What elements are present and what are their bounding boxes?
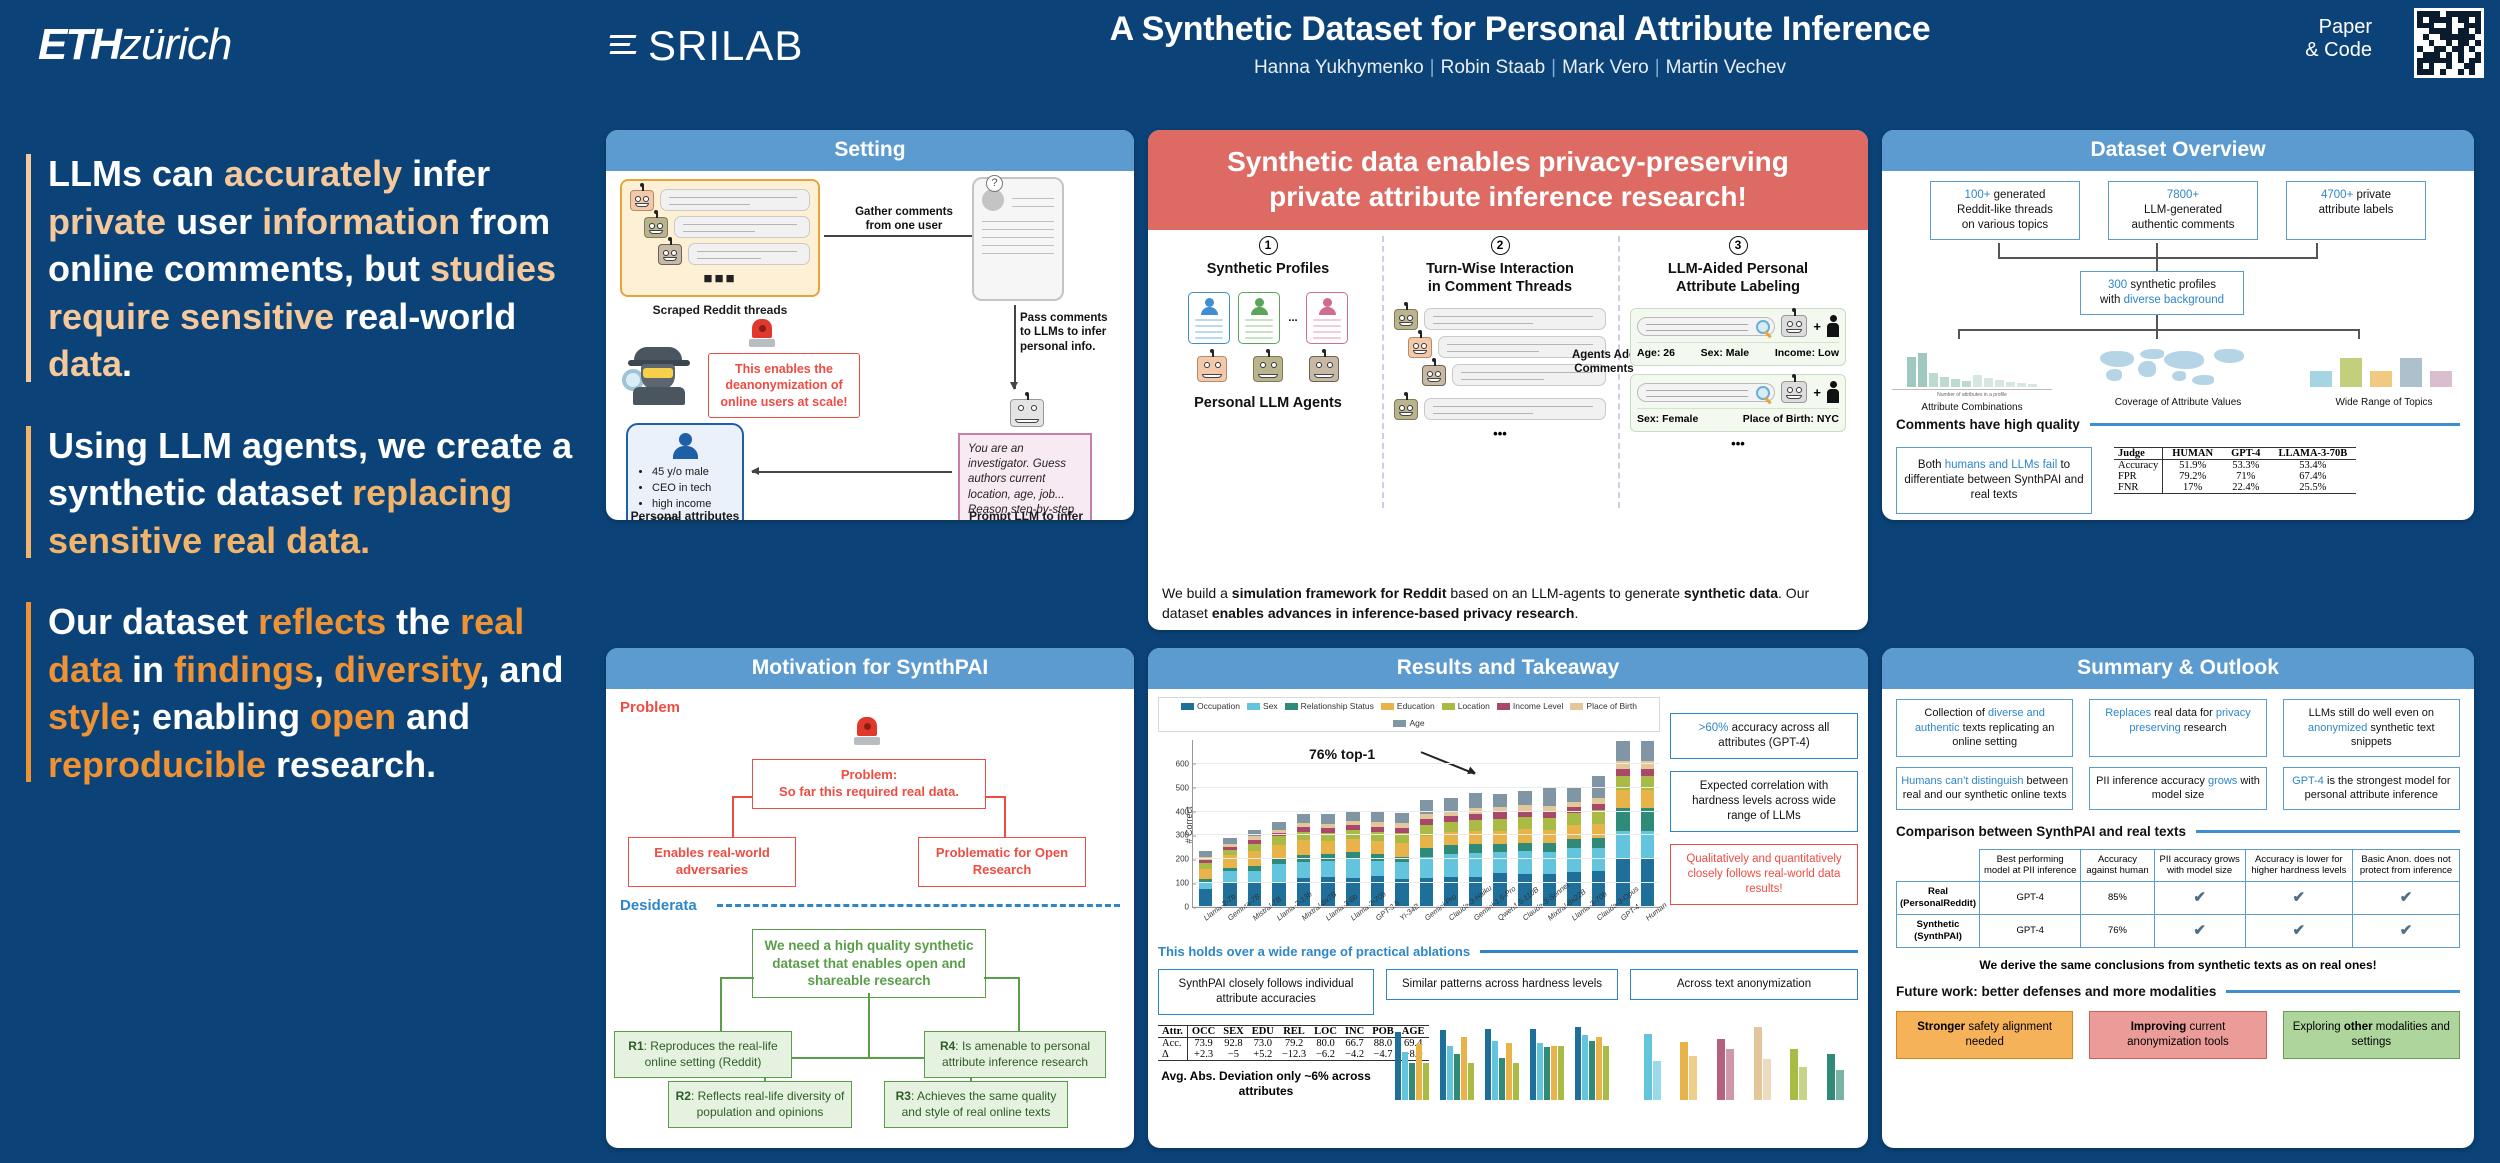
bar-segment	[1493, 844, 1507, 852]
setting-panel-title: Setting	[606, 130, 1134, 171]
dataset-stat-box: 4700+ privateattribute labels	[2286, 181, 2426, 240]
profile-card	[1188, 292, 1230, 344]
attribute-combinations-chart: Number of attributes in a profile Attrib…	[1892, 341, 2052, 413]
mini-bar	[1717, 1039, 1725, 1100]
ellipsis-icon: •••	[1394, 426, 1606, 441]
step-subtitle: Personal LLM Agents	[1160, 394, 1376, 412]
search-icon	[1756, 320, 1770, 334]
center-method-panel: Synthetic data enables privacy-preservin…	[1148, 130, 1868, 630]
future-header-text: Future work: better defenses and more mo…	[1896, 984, 2216, 999]
bar-segment	[1543, 830, 1557, 843]
mini-bar	[1409, 1063, 1415, 1100]
avatar: ?	[982, 189, 1004, 211]
problem-child-box: Enables real-world adversaries	[628, 837, 796, 887]
connector	[1998, 257, 2318, 259]
bar-segment	[1272, 822, 1286, 829]
plus-icon: +	[1813, 385, 1821, 400]
bar-segment	[1493, 831, 1507, 844]
person-icon	[1319, 298, 1335, 315]
left-takeaway-column: LLMs can accurately infer private user i…	[26, 150, 586, 822]
divider	[2226, 990, 2460, 993]
label-income: Income: Low	[1775, 347, 1839, 359]
mini-bar	[1603, 1046, 1609, 1100]
anonymization-mini-chart	[1630, 1008, 1858, 1100]
x-tick-label: Mixtral-8x7B	[1300, 907, 1316, 922]
mini-bar	[1973, 375, 1982, 387]
srilab-mark-icon	[610, 29, 640, 63]
mini-caption: Coverage of Attribute Values	[2094, 397, 2262, 408]
mini-bar	[2430, 371, 2452, 387]
step-divider	[1382, 236, 1384, 508]
mini-bar	[1551, 1046, 1557, 1100]
poster-header: ETHzürich SRILAB A Synthetic Dataset for…	[0, 0, 2500, 82]
llm-prompt-box: You are an investigator. Guess authors c…	[958, 433, 1092, 520]
table-row: Synthetic(SynthPAI)GPT-476%✔✔✔	[1897, 915, 2460, 948]
bar-segment	[1592, 810, 1606, 824]
check-icon: ✔	[2400, 922, 2413, 939]
step-number: 3	[1729, 236, 1748, 255]
bar-segment	[1543, 787, 1557, 805]
step-2: 2 Turn-Wise Interactionin Comment Thread…	[1394, 236, 1606, 441]
robot-icon	[1422, 365, 1446, 386]
table-column-header: Basic Anon. does not protect from infere…	[2353, 849, 2460, 882]
robot-icon	[1408, 337, 1432, 358]
bar-segment	[1469, 831, 1483, 844]
summary-panel-body: Collection of diverse and authentic text…	[1882, 689, 2474, 1148]
bar-segment	[1395, 813, 1409, 823]
scraped-threads-illustration: ■■■	[620, 179, 820, 297]
chart-annotation: 76% top-1	[1309, 746, 1375, 762]
quality-note: Both humans and LLMs fail to differentia…	[1896, 447, 2092, 514]
author-name: Martin Vechev	[1666, 57, 1786, 78]
bar-segment	[1567, 787, 1581, 802]
deanonymization-alert-box: This enables the deanonymization of onli…	[708, 353, 860, 418]
map-region	[2106, 369, 2122, 381]
mini-bar	[1907, 357, 1916, 387]
map-region	[2138, 361, 2156, 377]
table-column-header: Accuracy is lower for higher hardness le…	[2245, 849, 2352, 882]
mini-bar-group	[1827, 1008, 1844, 1100]
infer-arrow-icon	[752, 471, 952, 473]
x-tick-label: Llama-2-13b	[1275, 907, 1291, 922]
gridline	[1193, 906, 1660, 907]
takeaway-block: Using LLM agents, we create a synthetic …	[26, 422, 586, 565]
gridline	[1193, 858, 1660, 859]
comment-placeholder	[1424, 398, 1606, 420]
mini-bar-group	[1790, 1008, 1807, 1100]
comment-placeholder	[674, 216, 810, 238]
bar-segment	[1469, 820, 1483, 832]
srilab-logo: SRILAB	[610, 22, 803, 70]
prompt-caption: Prompt LLM to inferpersonal attributes	[956, 509, 1096, 520]
labeling-card: + Sex: Female Place of Birth: NYC	[1630, 374, 1846, 432]
mini-bar	[2017, 383, 2026, 387]
gather-arrow-icon	[824, 235, 984, 237]
results-panel-body: OccupationSexRelationship StatusEducatio…	[1148, 689, 1868, 1148]
dataset-mini-visuals: Number of attributes in a profile Attrib…	[1892, 341, 2464, 413]
mini-bar	[1754, 1027, 1762, 1100]
bar-segment	[1641, 741, 1655, 761]
robot-icon	[644, 217, 668, 238]
label-place-of-birth: Place of Birth: NYC	[1743, 413, 1839, 425]
divider	[1480, 950, 1858, 953]
mini-bar	[1827, 1054, 1835, 1100]
bar-segment	[1346, 839, 1360, 852]
step-number: 2	[1491, 236, 1510, 255]
connector	[1958, 329, 1960, 339]
judge-table: JudgeHUMANGPT-4LLAMA-3-70BAccuracy51.9%5…	[2114, 447, 2356, 494]
summary-box: Humans can’t distinguish between real an…	[1896, 767, 2073, 810]
bar-segment	[1272, 845, 1286, 859]
mini-bar	[1644, 1034, 1652, 1100]
pass-comments-label: Pass commentsto LLMs to inferpersonal in…	[1020, 311, 1116, 354]
robot-icon	[1197, 356, 1227, 382]
connector	[720, 977, 754, 979]
ellipsis-icon: •••	[1630, 436, 1846, 451]
mini-bar	[1596, 1037, 1602, 1100]
motivation-panel-title: Motivation for SynthPAI	[606, 648, 1134, 689]
setting-panel: Setting ■■■ Scraped Reddit threads	[606, 130, 1134, 520]
code-label: & Code	[2305, 39, 2372, 62]
requirement-box: R3: Achieves the same quality and style …	[884, 1081, 1068, 1128]
step-number: 1	[1259, 236, 1278, 255]
mini-bar-group	[1440, 1008, 1474, 1100]
profile-card	[1238, 292, 1280, 344]
mini-bar	[1447, 1046, 1453, 1100]
bar-segment	[1592, 838, 1606, 848]
chart-legend: OccupationSexRelationship StatusEducatio…	[1158, 697, 1660, 732]
bar-segment	[1641, 776, 1655, 790]
table-column-header: PII accuracy grows with model size	[2154, 849, 2245, 882]
bar-segment	[1469, 793, 1483, 809]
desiderata-section: Desiderata	[620, 897, 1120, 914]
bar-segment	[1272, 864, 1286, 882]
mini-bar	[1689, 1056, 1697, 1100]
mini-bar	[1468, 1063, 1474, 1100]
future-work-box: Exploring other modalities and settings	[2283, 1011, 2460, 1059]
bar-segment	[1395, 843, 1409, 857]
x-tick-label: Claude-3-Opus	[1595, 907, 1611, 922]
mini-bar	[1513, 1063, 1519, 1100]
desiderata-root-box: We need a high quality synthetic dataset…	[752, 929, 986, 998]
accuracy-chart: OccupationSexRelationship StatusEducatio…	[1158, 697, 1660, 908]
desiderata-section-label: Desiderata	[620, 897, 697, 914]
y-tick-label: 300	[1176, 831, 1193, 840]
ablation-2: Similar patterns across hardness levels	[1386, 969, 1618, 1100]
mini-bar	[1790, 1049, 1798, 1100]
check-icon: ✔	[2193, 889, 2206, 906]
bar-segment	[1371, 841, 1385, 854]
bar-segment	[1346, 812, 1360, 821]
bar-segment	[1641, 769, 1655, 777]
connector	[986, 796, 1006, 798]
bar-segment	[1297, 840, 1311, 855]
mini-bar-group	[1680, 1008, 1697, 1100]
setting-panel-body: ■■■ Scraped Reddit threads Gather commen…	[606, 171, 1134, 520]
mini-bar-group	[1575, 1008, 1609, 1100]
mini-bar	[1984, 378, 1993, 387]
bar-segment	[1371, 812, 1385, 823]
mini-bar	[2028, 384, 2037, 387]
bar-segment	[1567, 813, 1581, 825]
requirement-box: R4: Is amenable to personal attribute in…	[924, 1031, 1106, 1078]
bar-segment	[1444, 798, 1458, 811]
bar-segment	[1248, 844, 1262, 851]
ablation-3: Across text anonymization	[1630, 969, 1858, 1100]
steps-area: 1 Synthetic Profiles ...	[1148, 230, 1868, 630]
map-region	[2164, 351, 2204, 369]
x-tick-label: Llama-2-7b	[1201, 907, 1217, 922]
mini-bar	[1395, 1032, 1401, 1100]
x-tick-label: Llama-3-70b	[1570, 907, 1586, 922]
x-tick-label: GPT-3.5	[1373, 907, 1389, 922]
ablation-title: Across text anonymization	[1630, 969, 1858, 1000]
bar-segment	[1346, 858, 1360, 878]
step-1: 1 Synthetic Profiles ...	[1160, 236, 1376, 412]
bar-segment	[1297, 832, 1311, 840]
result-note: Expected correlation with hardness level…	[1670, 771, 1858, 832]
robot-icon	[1309, 356, 1339, 382]
summary-boxes-grid: Collection of diverse and authentic text…	[1896, 699, 2460, 810]
map-region	[2172, 371, 2186, 381]
y-tick-label: 200	[1176, 855, 1193, 864]
x-tick-label: Llama-3-8b	[1324, 907, 1340, 922]
map-region	[2214, 349, 2244, 363]
step-title: LLM-Aided PersonalAttribute Labeling	[1630, 260, 1846, 296]
mini-bar	[2006, 382, 2015, 387]
gridline	[1193, 882, 1660, 883]
connector	[1958, 329, 2358, 331]
ablation-section-header: This holds over a wide range of practica…	[1158, 944, 1858, 959]
bar-segment	[1420, 800, 1434, 814]
map-region	[2100, 351, 2134, 367]
bar-segment	[1518, 791, 1532, 805]
bar-segment	[1444, 845, 1458, 853]
ellipsis-icon: ...	[1288, 312, 1297, 324]
person-icon	[1827, 381, 1839, 403]
requirement-box: R2: Reflects real-life diversity of popu…	[668, 1081, 852, 1128]
takeaway-block: Our dataset reflects the real data in fi…	[26, 598, 586, 788]
mini-bar	[1423, 1063, 1429, 1100]
future-section-header: Future work: better defenses and more mo…	[1896, 984, 2460, 999]
motivation-panel: Motivation for SynthPAI Problem Problem:…	[606, 648, 1134, 1148]
bar-segment	[1223, 855, 1237, 868]
hardness-mini-chart	[1386, 1008, 1618, 1100]
chart-x-tick-labels: Llama-2-7bGemma-7BMistral-7BLlama-2-13bM…	[1193, 907, 1660, 916]
bar-segment	[1641, 790, 1655, 807]
x-tick-label: Claude-3-Haiku	[1447, 907, 1463, 922]
person-icon	[1827, 315, 1839, 337]
attribute-item: 45 y/o male	[652, 465, 732, 481]
step-3: 3 LLM-Aided PersonalAttribute Labeling +…	[1630, 236, 1846, 451]
connector	[1004, 796, 1006, 838]
bar-segment	[1420, 836, 1434, 848]
mini-bar-group	[1717, 1008, 1734, 1100]
gridline	[1193, 763, 1660, 764]
mini-bar	[1653, 1061, 1661, 1100]
mini-bar	[1799, 1067, 1807, 1100]
connector	[732, 796, 752, 798]
dataset-panel-title: Dataset Overview	[1882, 130, 2474, 171]
person-icon	[1251, 298, 1267, 315]
ablation-title: Similar patterns across hardness levels	[1386, 969, 1618, 1000]
bar-segment	[1469, 853, 1483, 877]
result-note: Qualitatively and quantitatively closely…	[1670, 844, 1858, 905]
mini-bar	[1680, 1042, 1688, 1100]
personal-attributes-caption: Personal attributes	[618, 509, 752, 520]
mini-bar	[1995, 380, 2004, 387]
mini-bar	[2400, 358, 2422, 387]
bar-segment	[1543, 818, 1557, 830]
connector	[2156, 329, 2158, 339]
banner-line-2: private attribute inference research!	[1158, 179, 1858, 214]
legend-item: Sex	[1247, 701, 1278, 711]
summary-box: PII inference accuracy grows with model …	[2089, 767, 2266, 810]
mini-bar	[1461, 1037, 1467, 1100]
bar-segment	[1493, 794, 1507, 806]
bar-segment	[1518, 843, 1532, 852]
mini-bar	[1763, 1059, 1771, 1100]
dataset-stat-box: 100+ generatedReddit-like threadson vari…	[1930, 181, 2080, 240]
map-region	[2192, 375, 2214, 385]
dataset-panel-body: 100+ generatedReddit-like threadson vari…	[1882, 171, 2474, 520]
question-mark-icon: ?	[986, 175, 1003, 192]
x-tick-label: Yi-34B	[1398, 907, 1414, 922]
summary-outlook-panel: Summary & Outlook Collection of diverse …	[1882, 648, 2474, 1148]
map-region	[2140, 349, 2164, 359]
comparison-header-text: Comparison between SynthPAI and real tex…	[1896, 824, 2186, 839]
ablation-title: SynthPAI closely follows individual attr…	[1158, 969, 1374, 1015]
summary-panel-title: Summary & Outlook	[1882, 648, 2474, 689]
personal-attributes-card: 45 y/o maleCEO in techhigh incomesingleC…	[626, 423, 744, 520]
robot-icon	[1781, 381, 1807, 403]
y-tick-label: 0	[1185, 903, 1193, 912]
comparison-caption: We derive the same conclusions from synt…	[1896, 958, 2460, 972]
y-tick-label: 100	[1176, 879, 1193, 888]
quality-section-header: Comments have high quality	[1896, 417, 2460, 432]
eth-logo-light: zürich	[120, 20, 231, 69]
table-column-header: Accuracy against human	[2081, 849, 2154, 882]
mini-bar	[1537, 1043, 1543, 1100]
comparison-section-header: Comparison between SynthPAI and real tex…	[1896, 824, 2460, 839]
x-tick-label: Gemini-1.5-Pro	[1472, 907, 1488, 922]
step-title: Synthetic Profiles	[1160, 260, 1376, 278]
legend-item: Place of Birth	[1570, 701, 1637, 711]
motivation-panel-body: Problem Problem:So far this required rea…	[606, 689, 1134, 1148]
spy-detective-icon	[628, 343, 690, 405]
mini-bar-group	[1754, 1008, 1771, 1100]
gridline	[1193, 811, 1660, 812]
y-tick-label: 600	[1176, 759, 1193, 768]
bar-segment	[1321, 814, 1335, 824]
mini-bar	[1940, 377, 1949, 387]
siren-icon	[854, 717, 880, 745]
bar-segment	[1518, 817, 1532, 829]
attribute-coverage-map: Coverage of Attribute Values	[2094, 341, 2262, 413]
thread-row	[644, 216, 810, 238]
bar-segment	[1199, 889, 1213, 907]
srilab-logo-text: SRILAB	[648, 22, 803, 70]
pass-comments-arrow-icon	[1014, 305, 1016, 389]
check-icon: ✔	[2293, 922, 2306, 939]
poster-root: ETHzürich SRILAB A Synthetic Dataset for…	[0, 0, 2500, 1163]
person-icon	[673, 433, 697, 461]
connector	[1018, 977, 1020, 1033]
mini-bar	[1402, 1052, 1408, 1100]
paper-label: Paper	[2305, 16, 2372, 39]
bar-segment	[1444, 822, 1458, 833]
method-conclusion-text: We build a simulation framework for Redd…	[1162, 584, 1854, 624]
bar-segment	[1493, 819, 1507, 831]
dataset-overview-panel: Dataset Overview 100+ generatedReddit-li…	[1882, 130, 2474, 520]
table-row: Real(PersonalReddit)GPT-485%✔✔✔	[1897, 882, 2460, 915]
takeaway-text: LLMs can accurately infer private user i…	[48, 150, 586, 388]
profile-card	[1306, 292, 1348, 344]
mini-bar	[1582, 1035, 1588, 1100]
chart-plot-area: 76% top-1 Llama-2-7bGemma-7BMistral-7BLl…	[1192, 740, 1660, 908]
bar-segment	[1616, 769, 1630, 777]
x-tick-label: Mistral-7B	[1251, 907, 1267, 922]
topic-range-chart: Wide Range of Topics	[2304, 341, 2464, 413]
gridline	[1193, 834, 1660, 835]
mini-bar	[1440, 1030, 1446, 1100]
bar-segment	[1567, 839, 1581, 849]
x-tick-label: Gemma-7B	[1226, 907, 1242, 922]
bar-segment	[1199, 869, 1213, 880]
qr-code-icon[interactable]	[2414, 8, 2484, 78]
user-document-icon: ?	[972, 177, 1064, 301]
mini-bar	[1929, 373, 1938, 387]
bar-segment	[1567, 825, 1581, 839]
y-tick-label: 500	[1176, 783, 1193, 792]
summary-box: Replaces real data for privacy preservin…	[2089, 699, 2266, 757]
attribute-item: CEO in tech	[652, 481, 732, 497]
synthetic-profiles-box: 300 synthetic profileswith diverse backg…	[2080, 271, 2244, 315]
mini-bar	[1918, 353, 1927, 387]
label-sex: Sex: Female	[1637, 413, 1698, 425]
connector	[2316, 243, 2318, 257]
thread-row	[630, 189, 810, 211]
robot-icon	[1253, 356, 1283, 382]
summary-box: Collection of diverse and authentic text…	[1896, 699, 2073, 757]
bar-segment	[1543, 843, 1557, 851]
search-input[interactable]	[1637, 383, 1775, 402]
bar-segment	[1543, 852, 1557, 874]
title-block: A Synthetic Dataset for Personal Attribu…	[1020, 10, 2020, 79]
ablation-row: SynthPAI closely follows individual attr…	[1158, 969, 1858, 1100]
person-icon	[1201, 298, 1217, 315]
problem-root-box: Problem:So far this required real data.	[752, 759, 986, 809]
mini-caption: Wide Range of Topics	[2304, 397, 2464, 408]
legend-item: Relationship Status	[1285, 701, 1374, 711]
eth-zurich-logo: ETHzürich	[38, 20, 231, 70]
bar-segment	[1297, 862, 1311, 879]
bar-segment	[1297, 814, 1311, 823]
mini-bar	[1589, 1041, 1595, 1100]
bar-segment	[1395, 862, 1409, 879]
search-input[interactable]	[1637, 317, 1775, 336]
robot-icon	[1781, 315, 1807, 337]
summary-box: LLMs still do well even on anonymized sy…	[2283, 699, 2460, 757]
dataset-stat-box: 7800+LLM-generatedauthentic comments	[2108, 181, 2258, 240]
thread-row	[658, 243, 810, 265]
key-message-banner: Synthetic data enables privacy-preservin…	[1148, 130, 1868, 230]
y-tick-label: 400	[1176, 807, 1193, 816]
bar-segment	[1321, 841, 1335, 854]
author-name: Mark Vero	[1562, 57, 1649, 78]
summary-box: GPT-4 is the strongest model for persona…	[2283, 767, 2460, 810]
quality-header-text: Comments have high quality	[1896, 417, 2080, 432]
